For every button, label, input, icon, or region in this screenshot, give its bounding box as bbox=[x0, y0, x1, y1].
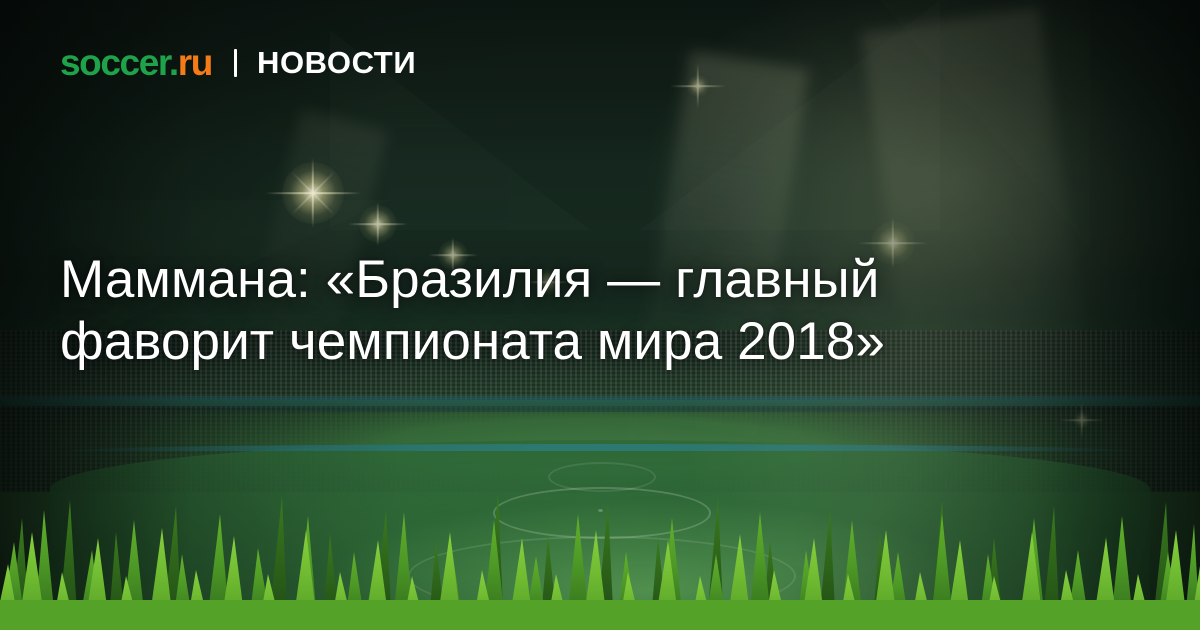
headline-line-1: Маммана: «Бразилия — главный bbox=[60, 249, 1050, 311]
header-separator-bar bbox=[234, 49, 237, 77]
headline-line-2: фаворит чемпионата мира 2018» bbox=[60, 311, 1050, 373]
news-share-card: soccer.ru НОВОСТИ Маммана: «Бразилия — г… bbox=[0, 0, 1200, 630]
logo-dot: . bbox=[169, 42, 178, 83]
site-header: soccer.ru НОВОСТИ bbox=[60, 44, 416, 81]
foreground-grass bbox=[0, 480, 1200, 630]
soccer-ru-logo[interactable]: soccer.ru bbox=[60, 44, 212, 81]
logo-word-ru: ru bbox=[178, 42, 212, 83]
headline: Маммана: «Бразилия — главный фаворит чем… bbox=[60, 249, 1050, 373]
logo-word-soccer: soccer bbox=[60, 42, 169, 83]
section-label-news: НОВОСТИ bbox=[257, 47, 416, 78]
